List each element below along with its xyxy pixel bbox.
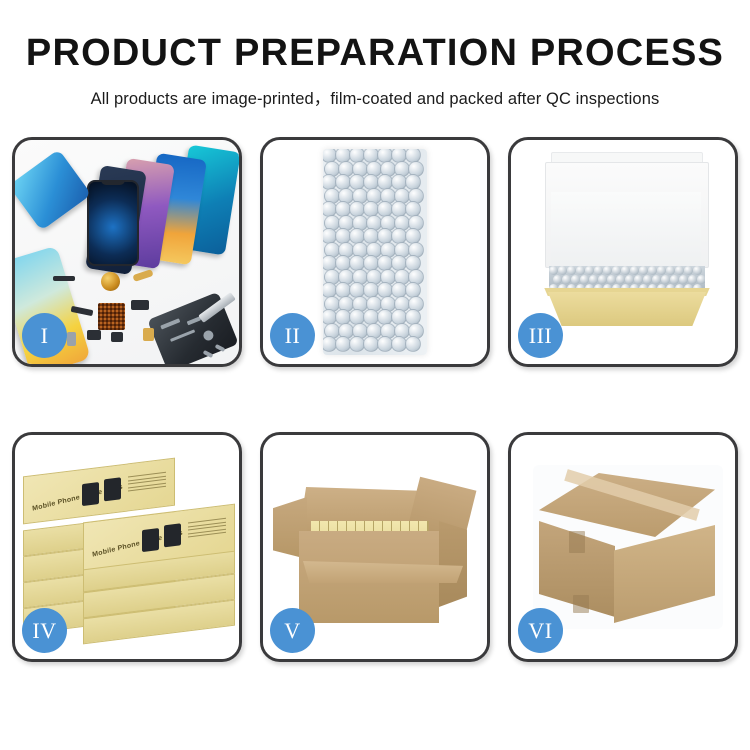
step-badge-6: VI bbox=[518, 608, 563, 653]
page-title: PRODUCT PREPARATION PROCESS bbox=[0, 34, 750, 74]
header: PRODUCT PREPARATION PROCESS All products… bbox=[0, 0, 750, 109]
steps-grid: I II III bbox=[12, 137, 738, 693]
bubble bbox=[585, 266, 594, 275]
step-panel-5: V bbox=[260, 432, 490, 662]
step-badge-3: III bbox=[518, 313, 563, 358]
bubble bbox=[549, 266, 558, 275]
bubble bbox=[688, 275, 697, 284]
box-spec-lines-1 bbox=[128, 472, 166, 494]
camera-module-part-icon bbox=[131, 300, 149, 310]
box-phone-image-3 bbox=[142, 528, 159, 552]
flex-cable-part-icon bbox=[132, 269, 153, 282]
bubble bbox=[567, 266, 576, 275]
step-panel-3: III bbox=[508, 137, 738, 367]
step-panel-4: Mobile Phone Spare Parts Mobile Phone Sp… bbox=[12, 432, 242, 662]
bubble bbox=[657, 266, 666, 275]
vibrator-part-icon bbox=[143, 328, 154, 341]
bubble bbox=[598, 275, 607, 284]
bubble bbox=[648, 266, 657, 275]
chip-grid-part-icon bbox=[98, 303, 125, 330]
bubble bbox=[679, 275, 688, 284]
bubble bbox=[670, 275, 679, 284]
bubble bbox=[580, 275, 589, 284]
box-phone-image-4 bbox=[164, 523, 181, 547]
bubble bbox=[634, 275, 643, 284]
box-base-icon bbox=[541, 292, 713, 326]
bubble bbox=[553, 275, 562, 284]
bubble bbox=[576, 266, 585, 275]
step-badge-4: IV bbox=[22, 608, 67, 653]
bubble bbox=[652, 275, 661, 284]
step-panel-1: I bbox=[12, 137, 242, 367]
step-badge-1: I bbox=[22, 313, 67, 358]
foam-sheet-icon bbox=[551, 192, 701, 270]
bubble bbox=[571, 275, 580, 284]
box-phone-image-2 bbox=[104, 477, 121, 501]
bubble bbox=[405, 336, 421, 352]
copper-disc-part-icon bbox=[101, 272, 120, 291]
bubble bbox=[589, 275, 598, 284]
bubble bbox=[630, 266, 639, 275]
carton-tab-top-icon bbox=[569, 531, 585, 553]
button-part-icon bbox=[111, 332, 123, 342]
tempered-glass-icon bbox=[87, 180, 139, 266]
bubble bbox=[675, 266, 684, 275]
bubble bbox=[684, 266, 693, 275]
connector-part-icon bbox=[53, 276, 75, 281]
step-panel-2: II bbox=[260, 137, 490, 367]
blue-screen-film-icon bbox=[15, 149, 92, 231]
bubble bbox=[643, 275, 652, 284]
bubble bbox=[693, 266, 702, 275]
bubble bbox=[639, 266, 648, 275]
page-subtitle: All products are image-printed，film-coat… bbox=[0, 85, 750, 109]
bubble bbox=[666, 266, 675, 275]
bubble bbox=[594, 266, 603, 275]
speaker-part-icon bbox=[87, 330, 101, 340]
step-badge-5: V bbox=[270, 608, 315, 653]
bubble bbox=[661, 275, 670, 284]
bubble bbox=[607, 275, 616, 284]
bubble bbox=[616, 275, 625, 284]
step-panel-6: VI bbox=[508, 432, 738, 662]
bubble bbox=[612, 266, 621, 275]
box-phone-image-1 bbox=[82, 482, 99, 506]
bubble bbox=[603, 266, 612, 275]
bubble bbox=[697, 275, 705, 284]
bubble bbox=[625, 275, 634, 284]
box-spec-lines-2 bbox=[188, 518, 226, 540]
bubble bbox=[562, 275, 571, 284]
bubble-wrap-sheet-icon bbox=[323, 149, 427, 355]
carton-side-icon bbox=[439, 521, 467, 607]
step-badge-2: II bbox=[270, 313, 315, 358]
bubble bbox=[621, 266, 630, 275]
sim-tray-part-icon bbox=[67, 332, 76, 346]
bubble bbox=[558, 266, 567, 275]
infographic-page: PRODUCT PREPARATION PROCESS All products… bbox=[0, 0, 750, 750]
carton-tab-bottom-icon bbox=[573, 595, 589, 613]
